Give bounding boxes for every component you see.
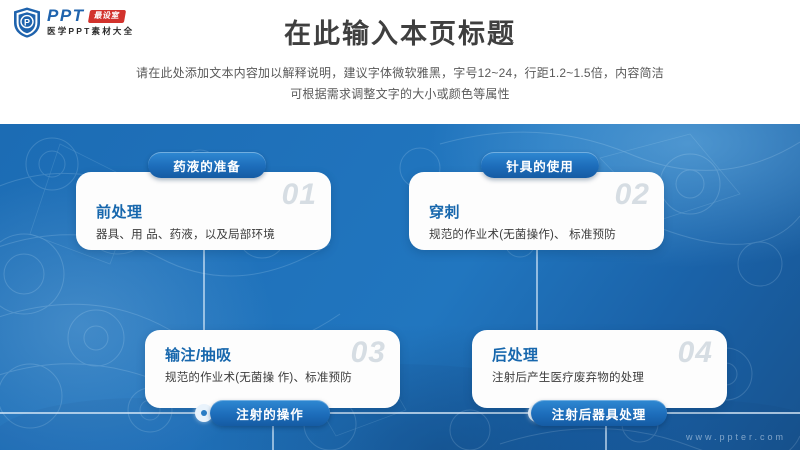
step-title-03: 输注/抽吸 — [165, 346, 232, 366]
step-badge-label-03: 注射的操作 — [236, 404, 304, 423]
step-card-04[interactable]: 04 后处理 注射后产生医疗废弃物的处理 — [472, 330, 727, 408]
slide-root: P PPT 最设室 医学PPT素材大全 在此输入本页标题 请在此处添加文本内容加… — [0, 0, 800, 450]
footer-url: www.ppter.com — [686, 432, 786, 442]
content-panel: 01 前处理 器具、用 品、药液，以及局部环境 药液的准备 02 穿刺 规范的作… — [0, 124, 800, 450]
step-title-04: 后处理 — [492, 346, 539, 366]
step-card-03[interactable]: 03 输注/抽吸 规范的作业术(无菌操 作)、标准预防 — [145, 330, 400, 408]
step-card-01[interactable]: 01 前处理 器具、用 品、药液，以及局部环境 — [76, 172, 331, 250]
step-number-02: 02 — [615, 178, 650, 212]
step-badge-04[interactable]: 注射后器具处理 — [531, 400, 667, 426]
page-title: 在此输入本页标题 — [0, 17, 800, 51]
step-number-04: 04 — [678, 336, 713, 370]
step-badge-label-04: 注射后器具处理 — [552, 404, 647, 423]
step-badge-label-02: 针具的使用 — [506, 156, 574, 175]
step-number-01: 01 — [282, 178, 317, 212]
step-badge-02[interactable]: 针具的使用 — [481, 152, 599, 178]
step-desc-04: 注射后产生医疗废弃物的处理 — [492, 370, 644, 386]
step-badge-01[interactable]: 药液的准备 — [148, 152, 266, 178]
header-area: P PPT 最设室 医学PPT素材大全 在此输入本页标题 请在此处添加文本内容加… — [0, 0, 800, 124]
step-card-02[interactable]: 02 穿刺 规范的作业术(无菌操作)、 标准预防 — [409, 172, 664, 250]
step-desc-03: 规范的作业术(无菌操 作)、标准预防 — [165, 370, 352, 386]
step-badge-label-01: 药液的准备 — [173, 156, 241, 175]
page-subtitle: 请在此处添加文本内容加以解释说明，建议字体微软雅黑，字号12~24，行距1.2~… — [0, 63, 800, 105]
step-desc-02: 规范的作业术(无菌操作)、 标准预防 — [429, 227, 616, 243]
step-badge-03[interactable]: 注射的操作 — [210, 400, 330, 426]
step-title-01: 前处理 — [96, 203, 143, 223]
page-subtitle-line-2: 可根据需求调整文字的大小或颜色等属性 — [0, 84, 800, 105]
step-number-03: 03 — [351, 336, 386, 370]
page-subtitle-line-1: 请在此处添加文本内容加以解释说明，建议字体微软雅黑，字号12~24，行距1.2~… — [0, 63, 800, 84]
step-desc-01: 器具、用 品、药液，以及局部环境 — [96, 227, 275, 243]
step-title-02: 穿刺 — [429, 203, 460, 223]
timeline-axis — [0, 412, 800, 414]
